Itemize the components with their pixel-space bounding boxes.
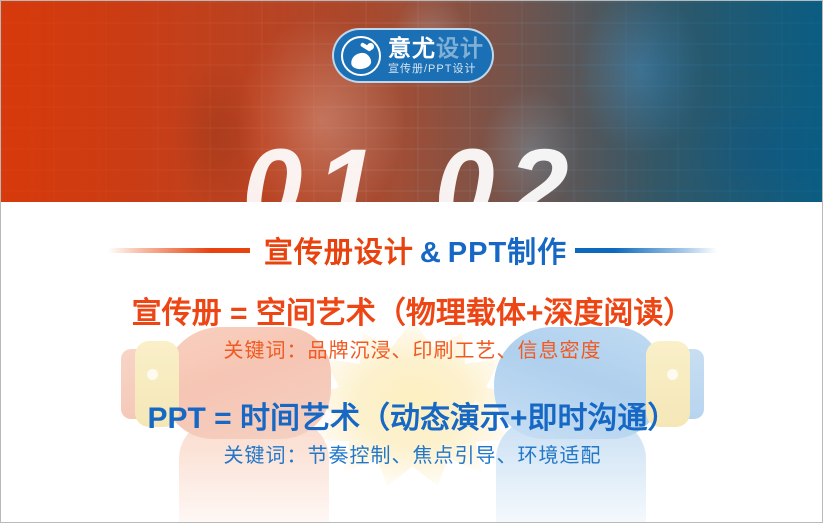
logo-text-group: 意尤设计 宣传册/PPT设计	[388, 37, 484, 75]
logo-mark-tip	[366, 42, 375, 51]
logo-subtitle: 宣传册/PPT设计	[388, 64, 484, 75]
brand-logo[interactable]: 意尤设计 宣传册/PPT设计	[332, 28, 494, 83]
section-brochure: 宣传册 = 空间艺术（物理载体+深度阅读） 关键词：品牌沉浸、印刷工艺、信息密度	[1, 297, 823, 363]
logo-title-light: 设计	[436, 35, 484, 61]
banner-section-numbers: 01 02	[1, 133, 823, 202]
logo-title-strong: 意尤	[388, 35, 436, 61]
brochure-headline: 宣传册 = 空间艺术（物理载体+深度阅读）	[1, 297, 823, 331]
title-rule-left	[108, 248, 250, 253]
title-rule-right	[575, 248, 717, 253]
page-title-orange: 宣传册设计	[264, 237, 414, 269]
section-title-row: 宣传册设计&PPT制作	[1, 229, 823, 271]
page-title-blue: PPT制作	[448, 237, 567, 269]
logo-title: 意尤设计	[388, 37, 484, 60]
ppt-keywords: 关键词：节奏控制、焦点引导、环境适配	[1, 444, 823, 468]
brochure-keywords: 关键词：品牌沉浸、印刷工艺、信息密度	[1, 339, 823, 363]
logo-mouse-icon	[341, 36, 381, 76]
ppt-headline: PPT = 时间艺术（动态演示+即时沟通）	[1, 402, 823, 436]
right-cuff-button	[667, 369, 678, 380]
slide-canvas: 01 02 意尤设计 宣传册/PPT设计	[0, 0, 823, 523]
left-cuff-button	[147, 369, 158, 380]
section-ppt: PPT = 时间艺术（动态演示+即时沟通） 关键词：节奏控制、焦点引导、环境适配	[1, 402, 823, 468]
page-title-ampersand: &	[420, 237, 442, 269]
logo-mark-body	[350, 51, 372, 70]
page-title: 宣传册设计&PPT制作	[264, 229, 567, 271]
hero-banner: 01 02 意尤设计 宣传册/PPT设计	[1, 1, 823, 202]
